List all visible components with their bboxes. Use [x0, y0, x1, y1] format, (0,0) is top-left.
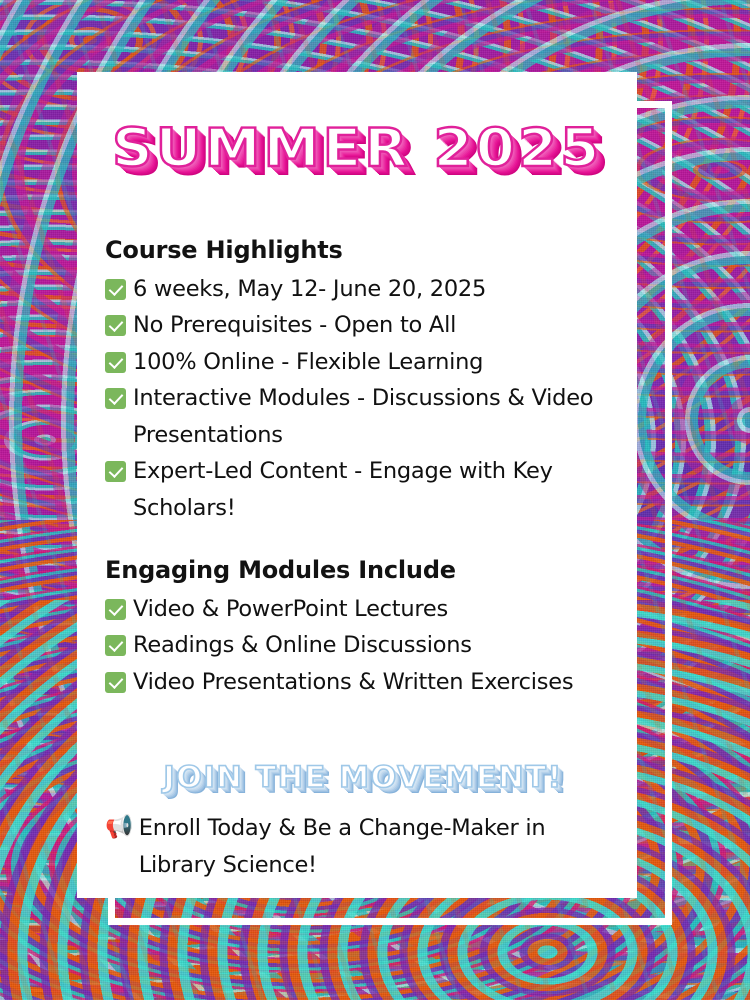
list-item: No Prerequisites - Open to All	[105, 307, 621, 343]
list-item: Video Presentations & Written Exercises	[105, 664, 621, 700]
cta-headline: JOIN THE MOVEMENT!	[163, 760, 563, 794]
list-item: 100% Online - Flexible Learning	[105, 344, 621, 380]
list-item: Interactive Modules - Discussions & Vide…	[105, 380, 621, 453]
list-item-label: Video Presentations & Written Exercises	[133, 664, 573, 700]
call-to-action-block: JOIN THE MOVEMENT! 📢 Enroll Today & Be a…	[91, 700, 623, 883]
list-item-label: Expert-Led Content - Engage with Key Sch…	[133, 453, 621, 526]
list-item: Video & PowerPoint Lectures	[105, 591, 621, 627]
cta-body: 📢 Enroll Today & Be a Change-Maker in Li…	[105, 810, 621, 883]
list-item: 6 weeks, May 12- June 20, 2025	[105, 271, 621, 307]
list-item: Expert-Led Content - Engage with Key Sch…	[105, 453, 621, 526]
list-item-label: No Prerequisites - Open to All	[133, 307, 456, 343]
check-icon	[105, 279, 126, 300]
list-course-highlights: 6 weeks, May 12- June 20, 2025 No Prereq…	[105, 271, 621, 526]
check-icon	[105, 388, 126, 409]
check-icon	[105, 352, 126, 373]
check-icon	[105, 599, 126, 620]
list-item-label: Readings & Online Discussions	[133, 627, 472, 663]
section-heading-course-highlights: Course Highlights	[105, 236, 621, 265]
megaphone-icon: 📢	[105, 816, 133, 839]
section-spacer	[105, 526, 621, 556]
content-card: SUMMER 2025 Course Highlights 6 weeks, M…	[77, 72, 637, 898]
poster-canvas: SUMMER 2025 Course Highlights 6 weeks, M…	[0, 0, 750, 1000]
list-item: Readings & Online Discussions	[105, 627, 621, 663]
list-item-label: 100% Online - Flexible Learning	[133, 344, 483, 380]
cta-text: Enroll Today & Be a Change-Maker in Libr…	[139, 810, 621, 883]
check-icon	[105, 635, 126, 656]
poster-title-area: SUMMER 2025	[91, 72, 623, 212]
list-item-label: 6 weeks, May 12- June 20, 2025	[133, 271, 486, 307]
list-engaging-modules: Video & PowerPoint Lectures Readings & O…	[105, 591, 621, 700]
list-item-label: Interactive Modules - Discussions & Vide…	[133, 380, 621, 453]
section-heading-engaging-modules: Engaging Modules Include	[105, 556, 621, 585]
page-title: SUMMER 2025	[112, 121, 602, 177]
list-item-label: Video & PowerPoint Lectures	[133, 591, 448, 627]
check-icon	[105, 461, 126, 482]
check-icon	[105, 315, 126, 336]
content-body: Course Highlights 6 weeks, May 12- June …	[91, 212, 623, 700]
check-icon	[105, 672, 126, 693]
